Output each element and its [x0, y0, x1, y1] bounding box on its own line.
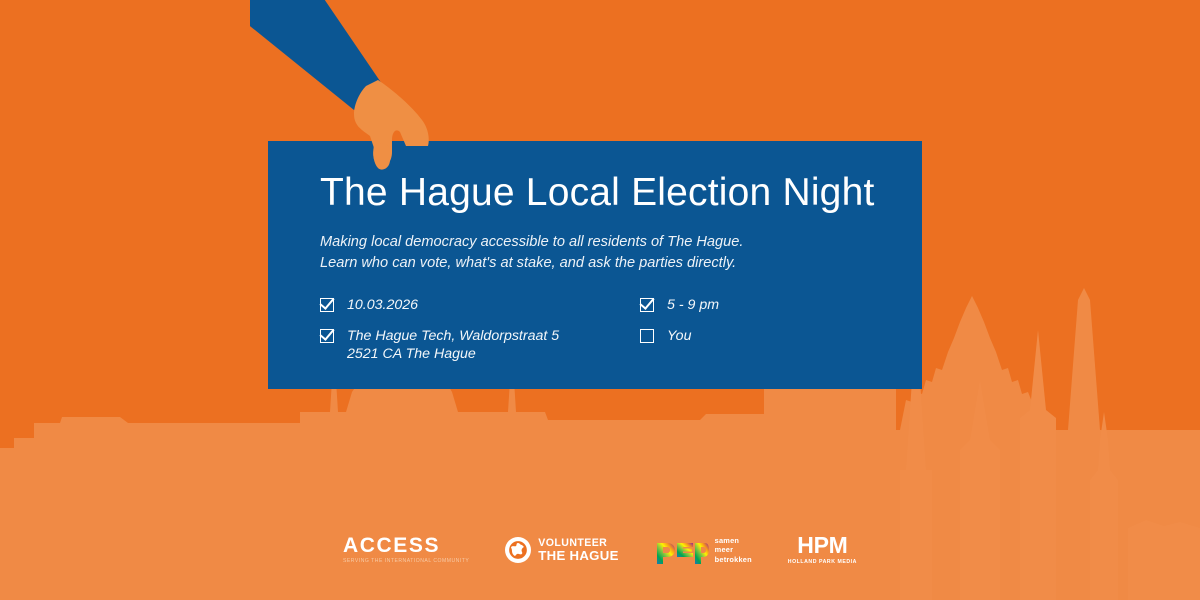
checkbox-checked-icon [320, 298, 334, 312]
holland-park-media-logo: HPM HOLLAND PARK MEDIA [788, 534, 857, 565]
detail-venue: The Hague Tech, Waldorpstraat 5 2521 CA … [320, 327, 559, 364]
event-banner: The Hague Local Election Night Making lo… [0, 0, 1200, 600]
page-title: The Hague Local Election Night [320, 171, 902, 215]
subtitle-line-2: Learn who can vote, what's at stake, and… [320, 253, 902, 274]
hpm-tagline: HOLLAND PARK MEDIA [788, 560, 857, 565]
access-logo: ACCESS SERVING THE INTERNATIONAL COMMUNI… [343, 535, 469, 564]
sponsor-logo-strip: ACCESS SERVING THE INTERNATIONAL COMMUNI… [0, 526, 1200, 574]
checkbox-unchecked-icon [640, 329, 654, 343]
hand-casting-ballot-icon [250, 0, 460, 175]
access-wordmark: ACCESS [343, 535, 440, 556]
pep-tagline: samen meer betrokken [715, 536, 752, 564]
event-subtitle: Making local democracy accessible to all… [320, 232, 902, 274]
checkbox-checked-icon [320, 329, 334, 343]
event-details: 10.03.2026 The Hague Tech, Waldorpstraat… [320, 296, 902, 370]
details-left-column: 10.03.2026 The Hague Tech, Waldorpstraat… [320, 296, 559, 376]
volunteer-the-hague-logo: VOLUNTEER THE HAGUE [505, 537, 618, 563]
hpm-wordmark: HPM [797, 534, 847, 557]
detail-time: 5 - 9 pm [640, 296, 719, 315]
volunteer-wordmark: VOLUNTEER THE HAGUE [538, 538, 618, 562]
globe-icon [505, 537, 531, 563]
detail-date: 10.03.2026 [320, 296, 559, 315]
checkbox-checked-icon [640, 298, 654, 312]
pep-wordmark-icon [655, 535, 709, 565]
subtitle-line-1: Making local democracy accessible to all… [320, 232, 902, 253]
details-right-column: 5 - 9 pm You [640, 296, 719, 357]
access-tagline: SERVING THE INTERNATIONAL COMMUNITY [343, 559, 469, 564]
detail-you: You [640, 327, 719, 346]
pep-logo: samen meer betrokken [655, 535, 752, 565]
event-info-card: The Hague Local Election Night Making lo… [268, 141, 922, 389]
